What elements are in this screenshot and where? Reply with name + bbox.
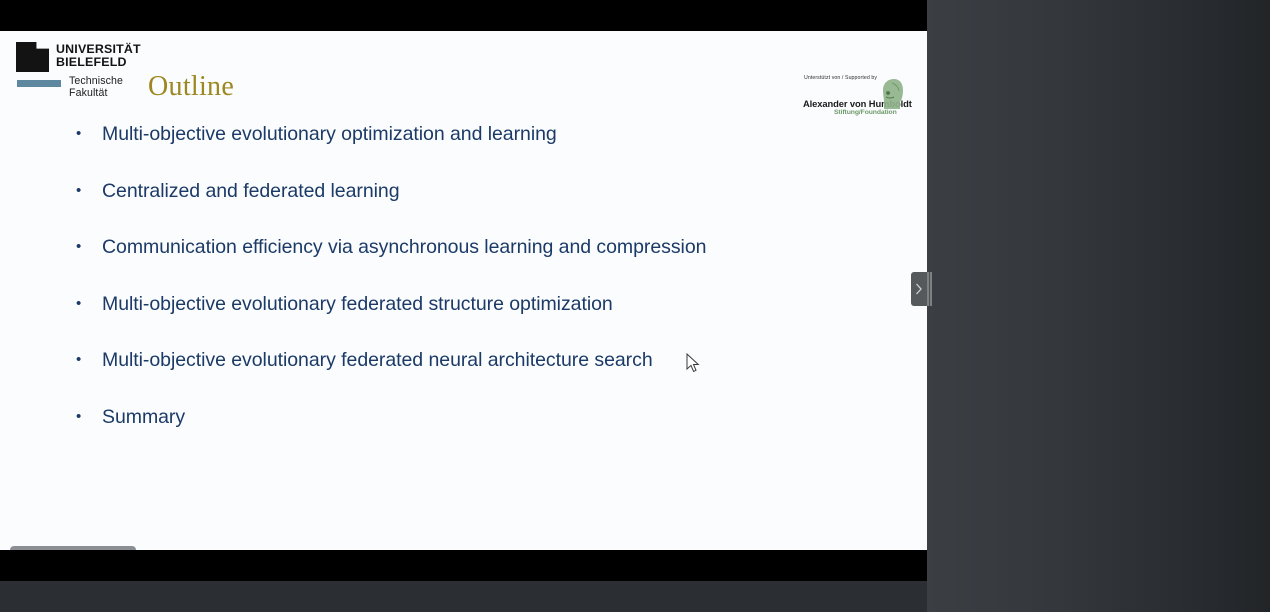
university-logo-bar xyxy=(17,80,61,87)
slide-header: UNIVERSITÄT BIELEFELD Technische Fakultä… xyxy=(0,31,927,105)
participants-panel: 金耀初（萨里大学） xyxy=(927,0,1270,612)
presentation-slide: UNIVERSITÄT BIELEFELD Technische Fakultä… xyxy=(0,31,927,550)
list-item: • Communication efficiency via asynchron… xyxy=(72,232,872,262)
panel-drag-handle[interactable] xyxy=(927,272,932,306)
university-logo-wordmark: UNIVERSITÄT BIELEFELD xyxy=(56,43,141,70)
letterbox-top-bar xyxy=(0,0,927,31)
humboldt-head-profile-icon xyxy=(880,78,906,110)
slide-title: Outline xyxy=(148,71,234,103)
bullet-text: Summary xyxy=(102,402,185,432)
bullet-text: Multi-objective evolutionary optimizatio… xyxy=(102,119,557,149)
bullet-point-icon: • xyxy=(72,345,102,375)
bullet-point-icon: • xyxy=(72,402,102,432)
shared-screen-stage[interactable]: UNIVERSITÄT BIELEFELD Technische Fakultä… xyxy=(0,0,927,612)
bullet-text: Centralized and federated learning xyxy=(102,176,400,206)
bullet-point-icon: • xyxy=(72,232,102,262)
bielefeld-mark-icon xyxy=(16,42,49,72)
chevron-right-icon xyxy=(915,283,923,295)
university-bielefeld-logo: UNIVERSITÄT BIELEFELD Technische Fakultä… xyxy=(16,42,138,95)
letterbox-bottom-bar xyxy=(0,550,927,581)
humboldt-subtitle-text: Stiftung/Foundation xyxy=(834,109,897,116)
expand-panel-handle[interactable] xyxy=(911,272,927,306)
bullet-point-icon: • xyxy=(72,176,102,206)
list-item: • Multi-objective evolutionary federated… xyxy=(72,345,872,375)
list-item: • Multi-objective evolutionary federated… xyxy=(72,289,872,319)
bullet-point-icon: • xyxy=(72,119,102,149)
bullet-text: Multi-objective evolutionary federated s… xyxy=(102,289,613,319)
bullet-text: Multi-objective evolutionary federated n… xyxy=(102,345,653,375)
university-logo-line1: UNIVERSITÄT xyxy=(56,43,141,56)
window-bottom-chrome xyxy=(0,581,927,612)
bullet-text: Communication efficiency via asynchronou… xyxy=(102,232,706,262)
mouse-cursor xyxy=(686,353,700,373)
bullet-point-icon: • xyxy=(72,289,102,319)
list-item: • Multi-objective evolutionary optimizat… xyxy=(72,119,872,149)
humboldt-foundation-logo: Unterstützt von / Supported by Alexander… xyxy=(800,75,908,121)
list-item: • Centralized and federated learning xyxy=(72,176,872,206)
screen-share-window: UNIVERSITÄT BIELEFELD Technische Fakultä… xyxy=(0,0,1270,612)
university-logo-subtitle: Technische Fakultät xyxy=(69,75,138,99)
university-logo-line2: BIELEFELD xyxy=(56,56,141,69)
list-item: • Summary xyxy=(72,402,872,432)
slide-bullet-list: • Multi-objective evolutionary optimizat… xyxy=(72,119,872,458)
humboldt-supported-by-text: Unterstützt von / Supported by xyxy=(804,75,877,81)
